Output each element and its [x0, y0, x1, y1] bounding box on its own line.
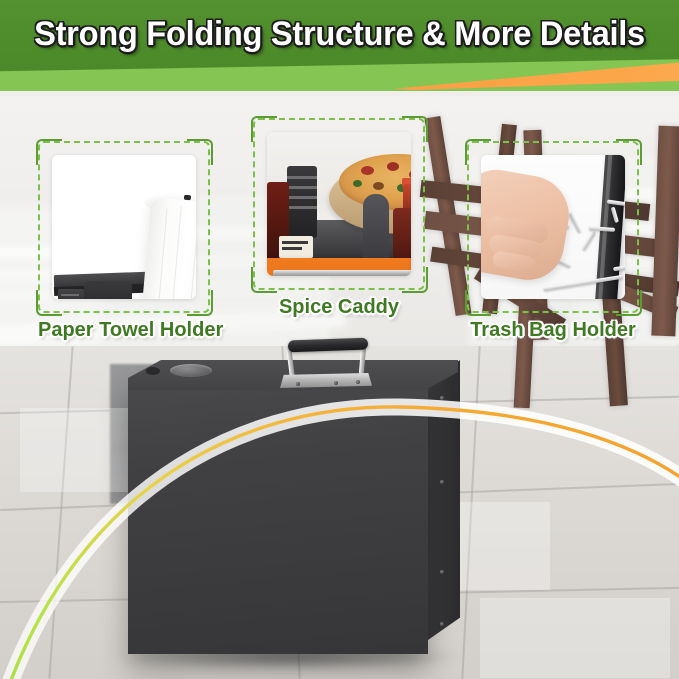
trash-bag-holder-photo — [481, 155, 625, 299]
feature-panel-paper-towel-holder[interactable]: Paper Towel Holder — [38, 141, 210, 313]
feature-panel-spice-caddy[interactable]: Spice Caddy — [253, 118, 425, 290]
caption-spice-caddy: Spice Caddy — [253, 296, 425, 319]
caption-paper-towel-holder: Paper Towel Holder — [38, 319, 210, 342]
feature-panel-trash-bag-holder[interactable]: Trash Bag Holder — [467, 141, 639, 313]
caption-trash-bag-holder: Trash Bag Holder — [467, 319, 639, 342]
folded-grill-product — [128, 360, 458, 660]
grill-vent-hole — [170, 364, 212, 377]
page-title: Strong Folding Structure & More Details — [14, 15, 666, 54]
infographic-root: Strong Folding Structure & More Details — [0, 0, 679, 679]
paper-towel-holder-photo — [52, 155, 196, 299]
header-banner: Strong Folding Structure & More Details — [0, 0, 679, 96]
grill-latch-slot — [146, 367, 160, 375]
grill-front-panel — [128, 378, 428, 654]
spice-caddy-photo — [267, 132, 411, 276]
grill-side-panel — [428, 360, 460, 640]
